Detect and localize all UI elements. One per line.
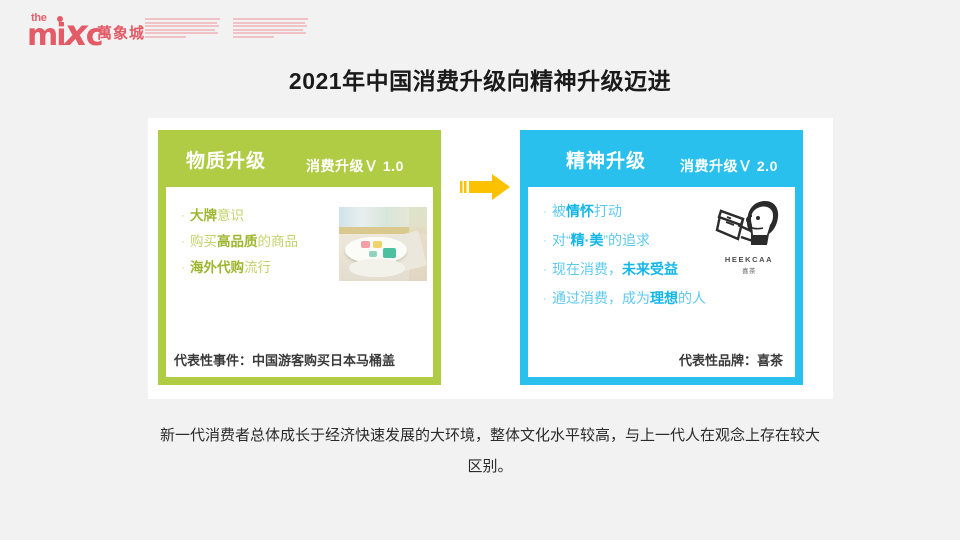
bullet-strong: 理想 [650, 290, 678, 306]
card-version-label: 消费升级Ｖ 2.0 [680, 156, 778, 176]
bullet-dot: · [538, 227, 552, 255]
content-panel: 物质升级 消费升级Ｖ 1.0 ·大牌意识 ·购买高品质的商品 ·海外代购流行 [148, 118, 833, 399]
logo-chinese-name: 萬象城 [97, 22, 145, 43]
bullet-strong: 情怀 [566, 203, 594, 219]
card-title: 精神升级 [566, 146, 646, 173]
card-version-label: 消费升级Ｖ 1.0 [306, 156, 404, 176]
japanese-toilet-seat-photo [339, 207, 427, 281]
list-item: ·海外代购流行 [176, 255, 298, 281]
card-title: 物质升级 [186, 146, 266, 173]
bullet-dot: · [176, 229, 190, 255]
slide-caption: 新一代消费者总体成长于经济快速发展的大环境，整体文化水平较高，与上一代人在观念上… [160, 420, 820, 482]
bullet-dot: · [538, 285, 552, 313]
header-placeholder-text-right [233, 18, 308, 44]
bullet-dot: · [176, 255, 190, 281]
card-spiritual-upgrade: 精神升级 消费升级Ｖ 2.0 ·被情怀打动 ·对“精·美”的追求 ·现在消费，未… [520, 130, 803, 385]
list-item: ·大牌意识 [176, 203, 298, 229]
brand-header: the mixc 萬象城 [0, 0, 960, 62]
card-footer-text: 代表性品牌：喜茶 [679, 350, 783, 369]
bullet-lead: 购买 [190, 234, 217, 249]
bullet-lead: 被 [552, 203, 566, 219]
card-footer-text: 代表性事件：中国游客购买日本马桶盖 [174, 350, 395, 369]
heekcaa-drinking-person-icon: HEEKCAA 喜茶 [707, 195, 791, 279]
list-item: ·对“精·美”的追求 [538, 226, 706, 255]
bullet-dot: · [176, 203, 190, 229]
bullet-strong: 海外代购 [190, 260, 244, 275]
bullet-rest: 的人 [678, 290, 706, 306]
bullet-strong: 未来受益 [622, 261, 678, 277]
card-footer: 代表性事件：中国游客购买日本马桶盖 [166, 341, 433, 377]
list-item: ·被情怀打动 [538, 197, 706, 226]
arrow-right-icon [450, 170, 516, 204]
list-item: ·通过消费，成为理想的人 [538, 284, 706, 313]
bullet-rest: 流行 [244, 260, 271, 275]
bullet-strong: 高品质 [217, 234, 258, 249]
card-header: 物质升级 消费升级Ｖ 1.0 [158, 130, 441, 187]
bullet-lead: 现在消费， [552, 261, 622, 277]
bullet-lead: 通过消费，成为 [552, 290, 650, 306]
list-item: ·购买高品质的商品 [176, 229, 298, 255]
bullet-rest: 的商品 [258, 234, 299, 249]
logo-wordmark: mixc [27, 19, 102, 51]
bullet-dot: · [538, 256, 552, 284]
slide-title: 2021年中国消费升级向精神升级迈进 [0, 62, 960, 96]
bullet-rest: 意识 [217, 208, 244, 223]
bullet-rest: ”的追求 [603, 232, 650, 248]
bullet-rest: 打动 [594, 203, 622, 219]
mixc-logo: the mixc 萬象城 [25, 10, 145, 54]
heekcaa-brand-name: HEEKCAA [707, 255, 791, 264]
header-placeholder-text-left [145, 18, 220, 44]
list-item: ·现在消费，未来受益 [538, 255, 706, 284]
bullet-list: ·大牌意识 ·购买高品质的商品 ·海外代购流行 [176, 203, 298, 281]
bullet-strong: 大牌 [190, 208, 217, 223]
bullet-dot: · [538, 198, 552, 226]
bullet-list: ·被情怀打动 ·对“精·美”的追求 ·现在消费，未来受益 ·通过消费，成为理想的… [538, 197, 706, 313]
heekcaa-brand-name-cn: 喜茶 [707, 265, 791, 275]
card-header: 精神升级 消费升级Ｖ 2.0 [520, 130, 803, 187]
bullet-strong: 精·美 [571, 232, 604, 248]
card-material-upgrade: 物质升级 消费升级Ｖ 1.0 ·大牌意识 ·购买高品质的商品 ·海外代购流行 [158, 130, 441, 385]
card-footer: 代表性品牌：喜茶 [528, 341, 795, 377]
bullet-lead: 对“ [552, 232, 571, 248]
